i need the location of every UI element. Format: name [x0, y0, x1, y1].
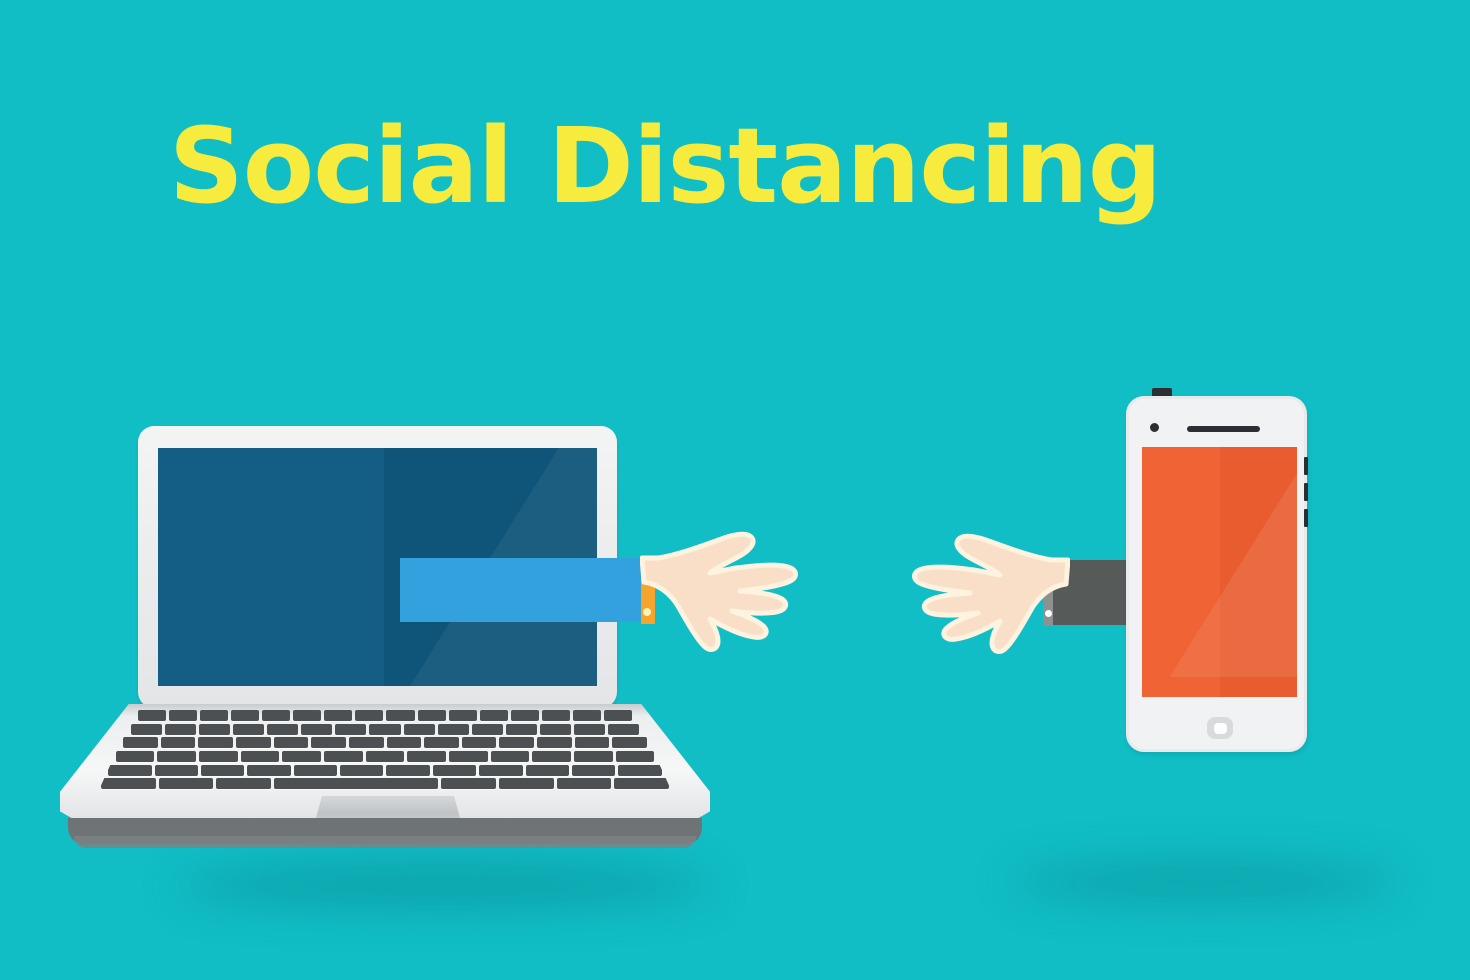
phone-screen: [1142, 447, 1297, 697]
keyboard-key[interactable]: [386, 710, 414, 721]
keyboard-key[interactable]: [340, 765, 383, 776]
keyboard-key[interactable]: [491, 751, 530, 762]
keyboard-key[interactable]: [449, 710, 477, 721]
keyboard-key[interactable]: [138, 710, 166, 721]
keyboard-key[interactable]: [612, 737, 647, 748]
keyboard-key[interactable]: [236, 737, 271, 748]
keyboard-key[interactable]: [387, 737, 422, 748]
keyboard-key[interactable]: [438, 724, 469, 735]
page-title: Social Distancing: [0, 112, 1470, 221]
keyboard-key[interactable]: [433, 765, 476, 776]
keyboard-key[interactable]: [616, 751, 655, 762]
phone-body: [1126, 396, 1307, 752]
keyboard-key[interactable]: [499, 778, 554, 789]
keyboard-key[interactable]: [274, 737, 309, 748]
keyboard-key[interactable]: [479, 765, 522, 776]
keyboard-key[interactable]: [575, 737, 610, 748]
keyboard-key[interactable]: [231, 710, 259, 721]
keyboard-key[interactable]: [540, 724, 571, 735]
keyboard-key[interactable]: [574, 724, 605, 735]
phone-side-button-3[interactable]: [1304, 509, 1308, 527]
keyboard-row: [131, 724, 640, 735]
keyboard-key[interactable]: [506, 724, 537, 735]
phone-earpiece-speaker-icon: [1187, 426, 1260, 432]
keyboard-key[interactable]: [199, 724, 230, 735]
keyboard-key[interactable]: [369, 724, 400, 735]
keyboard-key[interactable]: [404, 724, 435, 735]
keyboard-key[interactable]: [101, 778, 156, 789]
laptop: [60, 418, 710, 858]
keyboard-key[interactable]: [169, 710, 197, 721]
keyboard-key[interactable]: [294, 765, 337, 776]
right-hand-icon: [895, 522, 1070, 662]
phone-home-button[interactable]: [1207, 717, 1233, 739]
phone-screen-shade: [1220, 447, 1297, 697]
keyboard-key[interactable]: [335, 724, 366, 735]
keyboard-key[interactable]: [407, 751, 446, 762]
laptop-keyboard: [98, 710, 672, 792]
keyboard-key[interactable]: [157, 751, 196, 762]
keyboard-key[interactable]: [324, 751, 363, 762]
keyboard-key[interactable]: [511, 710, 539, 721]
keyboard-key[interactable]: [282, 751, 321, 762]
keyboard-row: [101, 778, 669, 789]
keyboard-key[interactable]: [349, 737, 384, 748]
keyboard-key[interactable]: [274, 778, 438, 789]
keyboard-key[interactable]: [574, 751, 613, 762]
keyboard-key[interactable]: [198, 737, 233, 748]
keyboard-key[interactable]: [614, 778, 669, 789]
keyboard-key[interactable]: [604, 710, 632, 721]
keyboard-row: [116, 751, 654, 762]
keyboard-key[interactable]: [386, 765, 429, 776]
keyboard-key[interactable]: [201, 765, 244, 776]
keyboard-key[interactable]: [311, 737, 346, 748]
keyboard-row: [138, 710, 632, 721]
keyboard-key[interactable]: [262, 710, 290, 721]
illustration-canvas: Social Distancing: [0, 0, 1470, 980]
keyboard-row: [108, 765, 661, 776]
keyboard-key[interactable]: [472, 724, 503, 735]
laptop-base-edge-lower: [74, 836, 696, 848]
keyboard-row: [123, 737, 646, 748]
keyboard-key[interactable]: [123, 737, 158, 748]
keyboard-key[interactable]: [293, 710, 321, 721]
left-arm-sleeve-group: [400, 558, 650, 622]
keyboard-key[interactable]: [572, 765, 615, 776]
keyboard-key[interactable]: [241, 751, 280, 762]
keyboard-key[interactable]: [462, 737, 497, 748]
keyboard-key[interactable]: [324, 710, 352, 721]
phone-ground-shadow: [1010, 862, 1400, 902]
keyboard-key[interactable]: [480, 710, 508, 721]
phone-side-button-1[interactable]: [1304, 457, 1308, 475]
keyboard-key[interactable]: [441, 778, 496, 789]
keyboard-key[interactable]: [449, 751, 488, 762]
keyboard-key[interactable]: [108, 765, 151, 776]
keyboard-key[interactable]: [247, 765, 290, 776]
keyboard-key[interactable]: [301, 724, 332, 735]
keyboard-key[interactable]: [608, 724, 639, 735]
keyboard-key[interactable]: [424, 737, 459, 748]
keyboard-key[interactable]: [131, 724, 162, 735]
phone-home-button-inner: [1214, 723, 1227, 734]
keyboard-key[interactable]: [532, 751, 571, 762]
laptop-ground-shadow: [175, 862, 715, 908]
smartphone: [1122, 388, 1318, 760]
keyboard-key[interactable]: [573, 710, 601, 721]
keyboard-key[interactable]: [155, 765, 198, 776]
keyboard-key[interactable]: [537, 737, 572, 748]
keyboard-key[interactable]: [199, 751, 238, 762]
keyboard-key[interactable]: [499, 737, 534, 748]
phone-front-camera-icon: [1150, 423, 1159, 432]
keyboard-key[interactable]: [526, 765, 569, 776]
keyboard-key[interactable]: [366, 751, 405, 762]
keyboard-key[interactable]: [165, 724, 196, 735]
keyboard-key[interactable]: [267, 724, 298, 735]
keyboard-key[interactable]: [233, 724, 264, 735]
keyboard-key[interactable]: [418, 710, 446, 721]
keyboard-key[interactable]: [216, 778, 271, 789]
keyboard-key[interactable]: [618, 765, 661, 776]
keyboard-key[interactable]: [159, 778, 214, 789]
keyboard-key[interactable]: [557, 778, 612, 789]
left-hand-icon: [640, 520, 815, 660]
keyboard-key[interactable]: [161, 737, 196, 748]
phone-side-button-2[interactable]: [1304, 483, 1308, 501]
left-sleeve: [400, 558, 645, 622]
keyboard-key[interactable]: [542, 710, 570, 721]
keyboard-key[interactable]: [200, 710, 228, 721]
keyboard-key[interactable]: [116, 751, 155, 762]
keyboard-key[interactable]: [355, 710, 383, 721]
